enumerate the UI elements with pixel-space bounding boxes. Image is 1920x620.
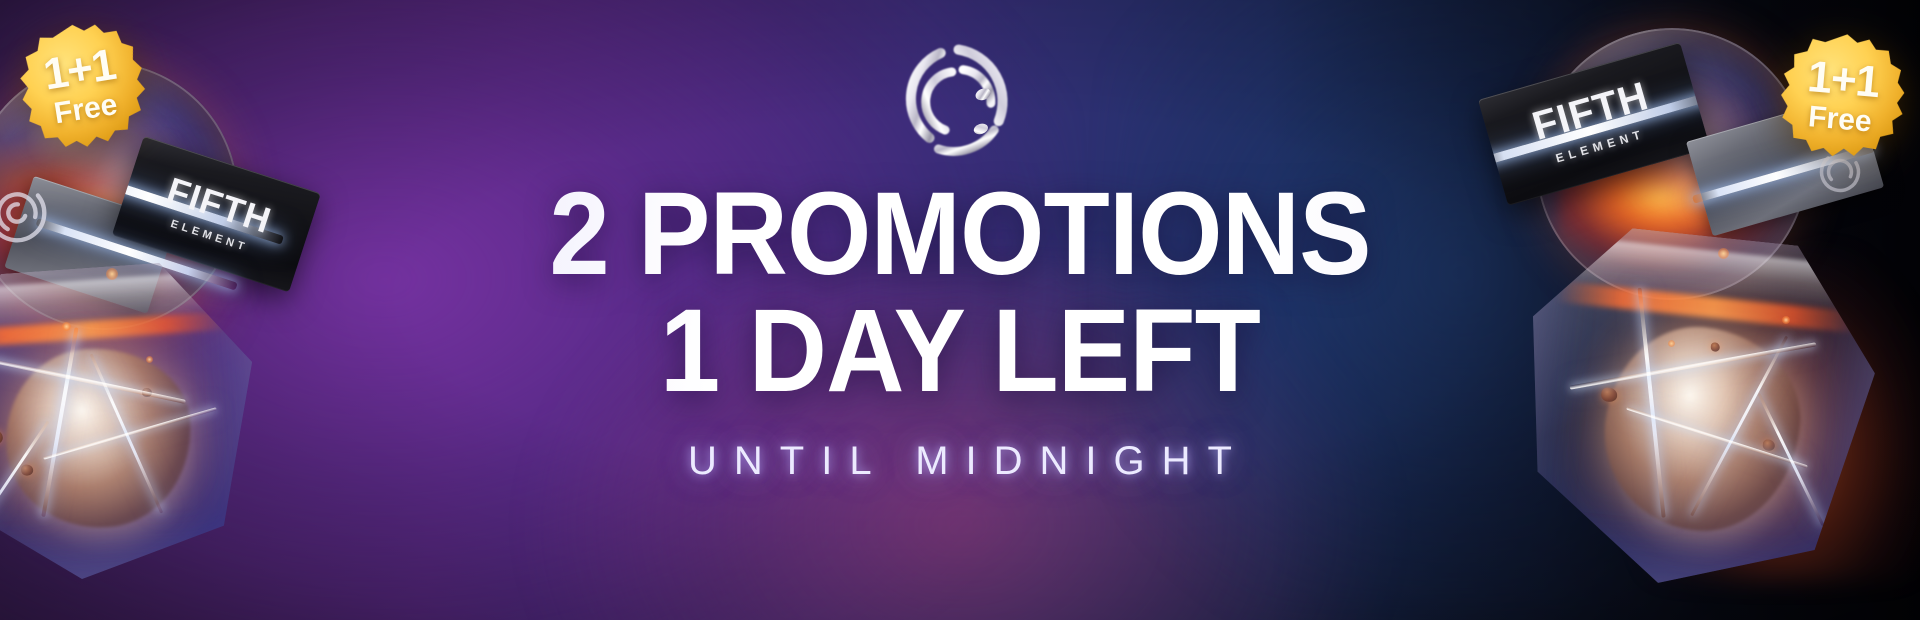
promo-banner: FIFTH ELEMENT bbox=[0, 0, 1920, 620]
promo-badge-left-text: 1+1 Free bbox=[9, 13, 155, 159]
spiral-watermark-left bbox=[0, 182, 48, 244]
promo-badge-right-text: 1+1 Free bbox=[1773, 27, 1912, 166]
promo-badge-left: 1+1 Free bbox=[9, 13, 155, 159]
badge-top-label: 1+1 bbox=[1806, 55, 1881, 105]
badge-bottom-label: Free bbox=[1807, 102, 1873, 137]
badge-bottom-label: Free bbox=[52, 89, 119, 129]
fifth-element-logo-icon bbox=[896, 34, 1030, 168]
promo-badge-right: 1+1 Free bbox=[1773, 27, 1912, 166]
